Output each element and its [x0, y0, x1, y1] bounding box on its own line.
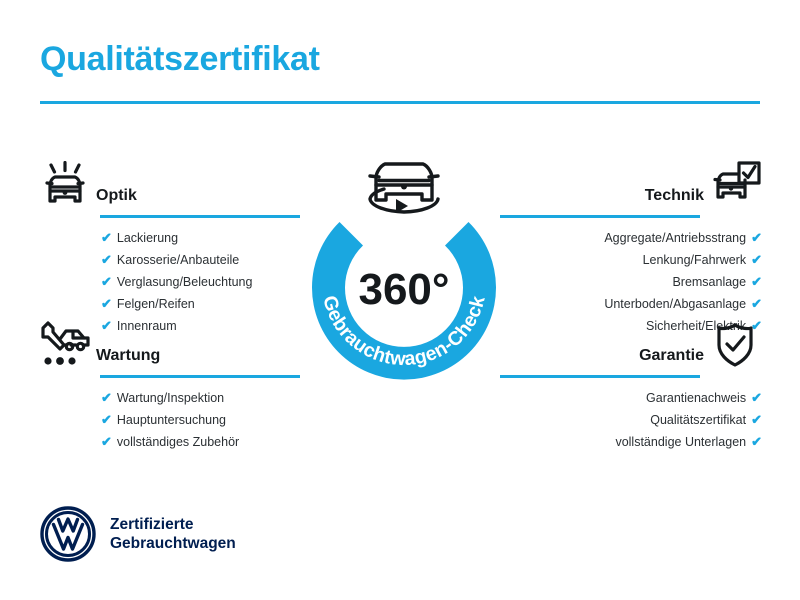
certificate-page: Qualitätszertifikat	[0, 0, 800, 600]
list-item-label: Wartung/Inspektion	[117, 388, 224, 409]
check-icon: ✔	[101, 227, 112, 248]
check-icon: ✔	[751, 387, 762, 408]
list-item: vollständige Unterlagen✔	[498, 431, 764, 453]
section-wartung: Wartung ✔Wartung/Inspektion ✔Hauptunters…	[36, 320, 302, 453]
footer-brand-text: Zertifizierte Gebrauchtwagen	[110, 515, 236, 553]
footer-brand: Zertifizierte Gebrauchtwagen	[40, 506, 236, 562]
check-icon: ✔	[751, 409, 762, 430]
list-item-label: Hauptuntersuchung	[117, 410, 226, 431]
list-item-label: Aggregate/Antriebsstrang	[604, 228, 746, 249]
check-icon: ✔	[751, 227, 762, 248]
section-divider-wartung	[100, 375, 300, 378]
section-garantie: Garantie Garantienachweis✔ Qualitätszert…	[498, 320, 764, 453]
list-item-label: Qualitätszertifikat	[650, 410, 746, 431]
check-icon: ✔	[751, 249, 762, 270]
list-item-label: Unterboden/Abgasanlage	[604, 294, 746, 315]
checklist-wartung: ✔Wartung/Inspektion ✔Hauptuntersuchung ✔…	[36, 387, 302, 453]
section-title-garantie: Garantie	[639, 348, 704, 364]
list-item-label: Garantienachweis	[646, 388, 746, 409]
section-title-wartung: Wartung	[96, 348, 160, 364]
badge-center-label: 360°	[358, 265, 449, 314]
list-item: ✔Felgen/Reifen	[36, 293, 302, 315]
list-item: ✔vollständiges Zubehör	[36, 431, 302, 453]
car-shine-icon	[36, 160, 94, 210]
car-rotate-icon	[370, 164, 438, 213]
list-item: Qualitätszertifikat✔	[498, 409, 764, 431]
footer-line-1: Zertifizierte	[110, 516, 194, 533]
list-item: ✔Hauptuntersuchung	[36, 409, 302, 431]
list-item-label: Lenkung/Fahrwerk	[643, 250, 747, 271]
list-item-label: Bremsanlage	[672, 272, 746, 293]
check-icon: ✔	[751, 431, 762, 452]
list-item-label: vollständiges Zubehör	[117, 432, 239, 453]
list-item: Garantienachweis✔	[498, 387, 764, 409]
header-divider	[40, 101, 760, 104]
check-icon: ✔	[101, 293, 112, 314]
section-technik: Technik Aggregat	[498, 160, 764, 337]
list-item-label: Karosserie/Anbauteile	[117, 250, 239, 271]
list-item: ✔Verglasung/Beleuchtung	[36, 271, 302, 293]
list-item: Aggregate/Antriebsstrang✔	[498, 227, 764, 249]
check-icon: ✔	[101, 271, 112, 292]
shield-check-icon	[706, 320, 764, 370]
check-icon: ✔	[101, 409, 112, 430]
list-item: Bremsanlage✔	[498, 271, 764, 293]
list-item: ✔Lackierung	[36, 227, 302, 249]
checklist-garantie: Garantienachweis✔ Qualitätszertifikat✔ v…	[498, 387, 764, 453]
car-checkbox-icon	[706, 160, 764, 210]
section-divider-technik	[500, 215, 700, 218]
car-service-icon	[36, 320, 94, 370]
check-icon: ✔	[101, 431, 112, 452]
check-icon: ✔	[101, 249, 112, 270]
vw-logo	[40, 506, 96, 562]
check-icon: ✔	[101, 387, 112, 408]
list-item-label: vollständige Unterlagen	[615, 432, 746, 453]
page-title: Qualitätszertifikat	[40, 40, 320, 79]
section-title-technik: Technik	[645, 188, 704, 204]
badge-360-gebrauchtwagen-check: 360° Gebrauchtwagen-Check	[300, 152, 508, 388]
check-icon: ✔	[751, 293, 762, 314]
list-item: ✔Wartung/Inspektion	[36, 387, 302, 409]
list-item-label: Verglasung/Beleuchtung	[117, 272, 253, 293]
list-item-label: Lackierung	[117, 228, 178, 249]
list-item: Lenkung/Fahrwerk✔	[498, 249, 764, 271]
section-optik: Optik ✔Lackierung ✔Karosserie/Anbauteile…	[36, 160, 302, 337]
footer-line-2: Gebrauchtwagen	[110, 535, 236, 552]
list-item-label: Felgen/Reifen	[117, 294, 195, 315]
section-title-optik: Optik	[96, 188, 137, 204]
section-divider-garantie	[500, 375, 700, 378]
list-item: ✔Karosserie/Anbauteile	[36, 249, 302, 271]
list-item: Unterboden/Abgasanlage✔	[498, 293, 764, 315]
check-icon: ✔	[751, 271, 762, 292]
section-divider-optik	[100, 215, 300, 218]
